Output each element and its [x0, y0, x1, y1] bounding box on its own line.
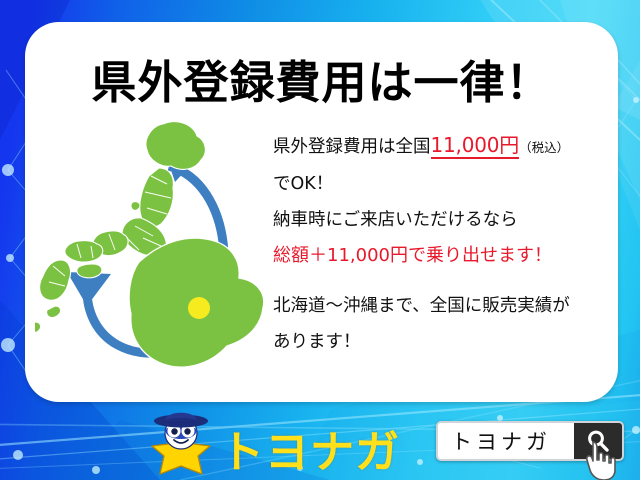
price-value: 11,000円	[431, 133, 520, 159]
copy-line-4-total: 総額＋11,000円で乗り出せます！	[273, 238, 613, 274]
brand-bar: トヨナガ トヨナガ	[0, 402, 640, 480]
copy-line-6: あります！	[273, 324, 613, 360]
copy-line-2: でOK！	[273, 166, 613, 202]
japan-map-illustration	[35, 110, 285, 395]
search-icon	[585, 428, 611, 454]
offer-copy: 県外登録費用は全国11,000円（税込） でOK！ 納車時にご来店いただけるなら…	[273, 127, 613, 360]
content-card: 県外登録費用は一律！	[25, 22, 618, 402]
page-title: 県外登録費用は一律！	[25, 46, 618, 111]
copy-line-5: 北海道〜沖縄まで、全国に販売実績が	[273, 288, 613, 324]
highlighted-prefecture	[129, 238, 264, 367]
search-input[interactable]: トヨナガ	[438, 423, 574, 459]
tax-note: （税込）	[519, 140, 569, 155]
location-dot	[188, 297, 210, 319]
copy-line-1: 県外登録費用は全国11,000円（税込）	[273, 127, 613, 166]
toyonaga-mascot	[146, 406, 216, 478]
search-box[interactable]: トヨナガ	[436, 421, 624, 461]
search-button[interactable]	[574, 423, 622, 459]
copy-line-3: 納車時にご来店いただけるなら	[273, 202, 613, 238]
brand-logo-text: トヨナガ	[220, 416, 400, 480]
